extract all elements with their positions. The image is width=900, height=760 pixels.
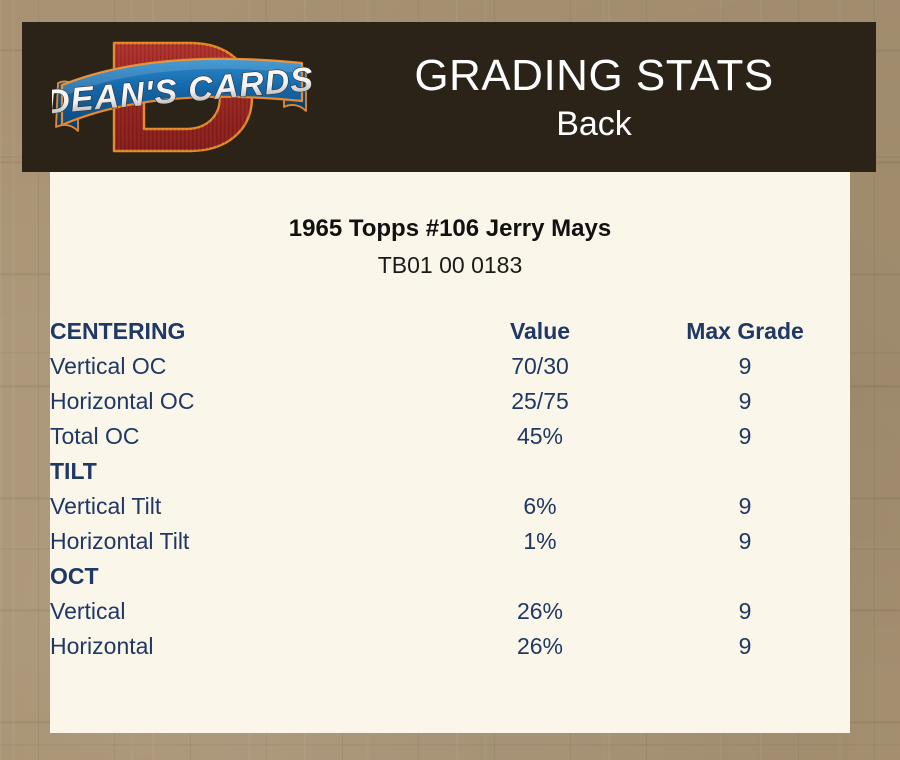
header-bar: DEAN'S CARDS GRADING STATS Back [22,22,876,172]
stat-label: Vertical Tilt [50,489,440,524]
deans-cards-logo[interactable]: DEAN'S CARDS [52,27,312,167]
table-row: Vertical OC 70/30 9 [50,349,850,384]
column-header-value: Value [440,314,640,349]
stat-grade: 9 [640,489,850,524]
column-header-max-grade: Max Grade [640,314,850,349]
card-title: 1965 Topps #106 Jerry Mays [50,214,850,244]
section-heading-centering: CENTERING [50,314,440,349]
section-spacer [640,559,850,594]
stat-grade: 9 [640,419,850,454]
page-title: GRADING STATS [414,49,773,103]
section-heading-tilt: TILT [50,454,440,489]
stat-grade: 9 [640,524,850,559]
stat-value: 1% [440,524,640,559]
section-row: TILT [50,454,850,489]
section-heading-oct: OCT [50,559,440,594]
stat-label: Vertical [50,594,440,629]
table-row: Horizontal Tilt 1% 9 [50,524,850,559]
table-row: Vertical Tilt 6% 9 [50,489,850,524]
stat-value: 70/30 [440,349,640,384]
stat-value: 26% [440,594,640,629]
table-row: Horizontal 26% 9 [50,629,850,664]
stat-label: Horizontal Tilt [50,524,440,559]
header-title-block: GRADING STATS Back [312,22,876,172]
section-spacer [640,454,850,489]
stat-grade: 9 [640,594,850,629]
stat-grade: 9 [640,384,850,419]
stat-label: Horizontal OC [50,384,440,419]
stat-grade: 9 [640,349,850,384]
card-serial-number: TB01 00 0183 [50,251,850,280]
stat-value: 25/75 [440,384,640,419]
table-row: Horizontal OC 25/75 9 [50,384,850,419]
stat-grade: 9 [640,629,850,664]
stat-label: Vertical OC [50,349,440,384]
stat-value: 45% [440,419,640,454]
grading-stats-table: CENTERING Value Max Grade Vertical OC 70… [50,314,850,664]
section-row: OCT [50,559,850,594]
table-row: Total OC 45% 9 [50,419,850,454]
stat-value: 6% [440,489,640,524]
section-spacer [440,559,640,594]
stat-value: 26% [440,629,640,664]
page-subtitle: Back [556,103,632,145]
table-row: Vertical 26% 9 [50,594,850,629]
stat-label: Horizontal [50,629,440,664]
content-panel: 1965 Topps #106 Jerry Mays TB01 00 0183 … [50,172,850,733]
table-header-row: CENTERING Value Max Grade [50,314,850,349]
section-spacer [440,454,640,489]
stat-label: Total OC [50,419,440,454]
